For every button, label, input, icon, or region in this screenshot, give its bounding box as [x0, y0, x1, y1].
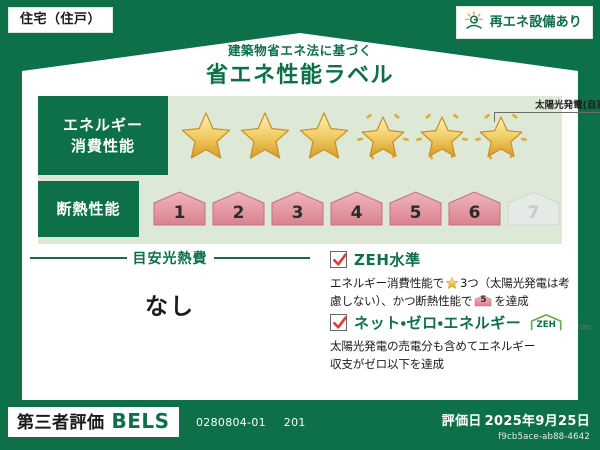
footer-bar: 第三者評価 BELS 0280804-01 201 評価日2025年9月25日 …: [0, 400, 600, 450]
evaluation-date-value: 2025年9月25日: [485, 414, 590, 429]
star-icon: [237, 108, 293, 164]
unit-number: 201: [284, 416, 306, 429]
evaluation-date-line: 評価日2025年9月25日: [442, 410, 590, 429]
criterion-zeh-standard-header: ZEH水準: [330, 249, 576, 270]
insulation-grade-badge: 5: [387, 189, 444, 229]
label-title: 省エネ性能ラベル: [0, 57, 600, 89]
criterion-net-zero-energy: ネット・ゼロ・エネルギー ZEH 「ZEH」 太陽光発電の売電分も含めてエネルギ…: [330, 312, 576, 374]
insulation-grade-badge: 4: [328, 189, 385, 229]
criterion-net-zero-energy-title: ネット・ゼロ・エネルギー: [354, 312, 521, 333]
bels-logo-text: BELS: [112, 411, 170, 431]
label-hash: f9cb5ace-ab88-4642: [442, 432, 590, 442]
energy-performance-label: 住宅（住戸） 再エネ設備あり 建築物省エネ法に基づく 省エネ性能ラベル: [0, 0, 600, 450]
evaluation-date-block: 評価日2025年9月25日 f9cb5ace-ab88-4642: [442, 410, 590, 442]
building-type-badge: 住宅（住戸）: [8, 7, 113, 33]
criterion-zeh-standard-description: エネルギー消費性能で3つ（太陽光発電は考慮しない）、かつ断熱性能で5を達成: [330, 275, 576, 311]
desc-text-1: エネルギー消費性能で: [330, 276, 444, 290]
star-sparkle-icon: [414, 108, 470, 164]
insulation-grade-badge: 6: [446, 189, 503, 229]
insulation-grade-badge: 2: [210, 189, 267, 229]
estimated-utility-cost-title: 目安光熱費: [133, 248, 208, 268]
svg-text:ZEH: ZEH: [537, 320, 556, 330]
zeh-house-logo-icon: ZEH: [528, 313, 568, 332]
performance-panel: エネルギー 消費性能 太陽光発電(自家消費)分: [38, 96, 562, 244]
insulation-grade-badge: 3: [269, 189, 326, 229]
bels-evaluation-badge: 第三者評価 BELS: [8, 407, 179, 437]
insulation-grade-inline-badge: 5: [474, 294, 492, 308]
insulation-grade-badge-inactive: 7: [505, 189, 562, 229]
star-icon: [445, 276, 459, 290]
desc-line-2: 収支がゼロ以下を達成: [330, 357, 444, 371]
inline-badge-number: 5: [474, 294, 492, 308]
star-sparkle-icon: [355, 108, 411, 164]
zeh-logo-trademark: 「ZEH」: [575, 324, 595, 333]
desc-line-1: 太陽光発電の売電分も含めてエネルギー: [330, 339, 535, 353]
rule-left: [30, 257, 127, 259]
checkbox-checked: [330, 314, 347, 331]
desc-text-2: 3つ（太陽光発電: [460, 276, 547, 290]
insulation-badges-area: 1 2 3 4: [139, 181, 562, 237]
estimated-utility-cost-header: 目安光熱費: [30, 248, 310, 268]
star-sparkle-icon: [473, 108, 529, 164]
star-icon: [178, 108, 234, 164]
criterion-net-zero-energy-description: 太陽光発電の売電分も含めてエネルギー 収支がゼロ以下を達成: [330, 338, 576, 374]
insulation-performance-label: 断熱性能: [38, 181, 139, 237]
energy-stars-area: 太陽光発電(自家消費)分: [168, 96, 562, 175]
renewable-equipment-badge: 再エネ設備あり: [456, 6, 593, 39]
criterion-net-zero-energy-header: ネット・ゼロ・エネルギー ZEH 「ZEH」: [330, 312, 576, 333]
energy-performance-row: エネルギー 消費性能 太陽光発電(自家消費)分: [38, 96, 562, 175]
renewable-badge-label: 再エネ設備あり: [490, 16, 582, 29]
insulation-grade-badge: 1: [151, 189, 208, 229]
star-icon: [296, 108, 352, 164]
third-party-evaluation-label: 第三者評価: [17, 415, 105, 432]
estimated-utility-cost-value: なし: [30, 287, 310, 321]
criterion-zeh-standard-title: ZEH水準: [354, 249, 421, 270]
estimated-utility-cost-block: 目安光熱費 なし: [30, 248, 310, 321]
rule-right: [214, 257, 311, 259]
certificate-number: 0280804-01: [196, 416, 266, 429]
desc-text-4: を達成: [494, 294, 528, 308]
certificate-info: 0280804-01 201: [196, 416, 306, 429]
checkbox-checked: [330, 251, 347, 268]
evaluation-date-label: 評価日: [442, 414, 482, 429]
solar-sun-icon: [463, 11, 485, 34]
criterion-zeh-standard: ZEH水準 エネルギー消費性能で3つ（太陽光発電は考慮しない）、かつ断熱性能で5…: [330, 249, 576, 311]
energy-performance-label: エネルギー 消費性能: [38, 96, 168, 175]
insulation-performance-row: 断熱性能 1 2: [38, 181, 562, 237]
